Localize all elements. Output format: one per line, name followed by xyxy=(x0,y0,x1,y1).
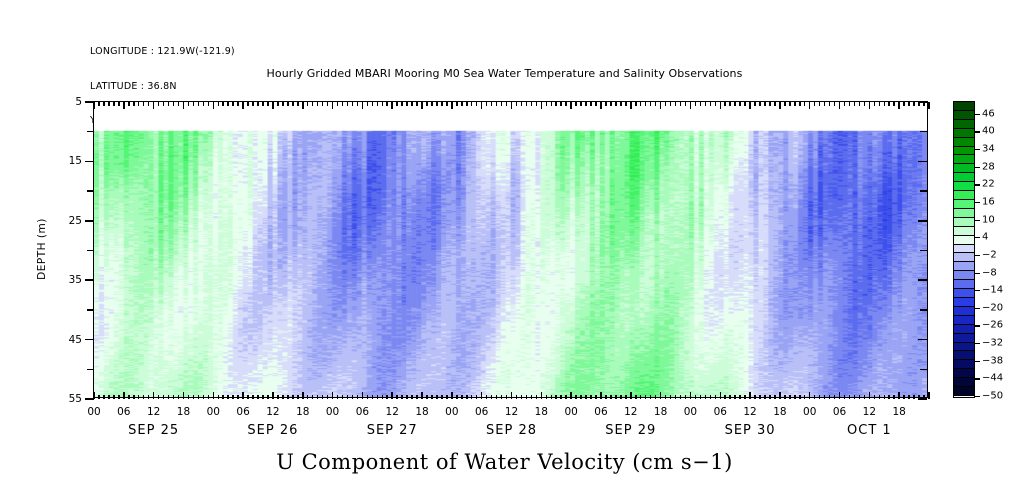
x-tick-minor-top xyxy=(476,102,478,106)
x-tick-major-top xyxy=(242,102,244,109)
x-tick-minor xyxy=(536,395,538,399)
x-tick-minor-top xyxy=(307,102,309,106)
x-tick-minor xyxy=(551,395,553,399)
x-tick-minor xyxy=(317,395,319,399)
x-tick-major-top xyxy=(898,102,900,109)
x-tick-minor xyxy=(615,395,617,399)
x-tick-minor-top xyxy=(168,102,170,106)
x-tick-minor xyxy=(143,395,145,399)
y-tick-label: 55 xyxy=(69,393,82,405)
x-tick-minor-top xyxy=(908,102,910,106)
x-tick-major xyxy=(600,392,602,399)
x-tick-minor-top xyxy=(546,102,548,106)
colorbar-band xyxy=(954,182,974,191)
colorbar-band xyxy=(954,253,974,262)
x-tick-minor-top xyxy=(565,102,567,106)
y-tick-minor xyxy=(87,131,94,133)
x-tick-minor xyxy=(227,395,229,399)
x-tick-minor xyxy=(764,395,766,399)
x-tick-major-top xyxy=(779,102,781,109)
x-tick-minor-top xyxy=(814,102,816,106)
x-tick-minor xyxy=(396,395,398,399)
x-tick-minor-top xyxy=(227,102,229,106)
x-tick-minor-top xyxy=(555,102,557,106)
x-tick-minor xyxy=(372,395,374,399)
x-tick-minor-top xyxy=(774,102,776,106)
x-tick-minor xyxy=(292,395,294,399)
x-tick-minor xyxy=(178,395,180,399)
x-tick-minor xyxy=(908,395,910,399)
colorbar-tick xyxy=(974,131,980,132)
x-tick-minor-top xyxy=(516,102,518,106)
colorbar-band xyxy=(954,147,974,156)
x-tick-minor xyxy=(307,395,309,399)
x-tick-minor xyxy=(297,395,299,399)
x-tick-minor-top xyxy=(103,102,105,106)
x-hour-label: 06 xyxy=(117,406,130,418)
x-hour-label: 12 xyxy=(266,406,279,418)
x-tick-minor-top xyxy=(496,102,498,106)
x-tick-minor xyxy=(834,395,836,399)
y-tick-minor-right xyxy=(920,369,927,371)
x-tick-minor xyxy=(352,395,354,399)
x-tick-major xyxy=(541,392,543,399)
x-tick-minor xyxy=(575,395,577,399)
colorbar-tick-label: −2 xyxy=(982,249,997,260)
x-tick-minor-top xyxy=(491,102,493,106)
x-hour-label: 00 xyxy=(684,406,697,418)
x-tick-minor-top xyxy=(382,102,384,106)
x-tick-major-top xyxy=(839,102,841,109)
colorbar-tick xyxy=(974,255,980,256)
x-tick-minor xyxy=(799,395,801,399)
colorbar-band xyxy=(954,289,974,298)
x-tick-minor-top xyxy=(650,102,652,106)
x-tick-minor-top xyxy=(724,102,726,106)
x-tick-minor-top xyxy=(605,102,607,106)
x-tick-minor xyxy=(695,395,697,399)
x-tick-minor xyxy=(471,395,473,399)
x-tick-minor-top xyxy=(352,102,354,106)
x-tick-minor-top xyxy=(710,102,712,106)
colorbar-band xyxy=(954,129,974,138)
colorbar-tick xyxy=(974,308,980,309)
x-tick-minor xyxy=(560,395,562,399)
x-tick-minor xyxy=(496,395,498,399)
colorbar-tick-label: 46 xyxy=(982,108,995,119)
x-hour-label: 12 xyxy=(147,406,160,418)
x-tick-major-top xyxy=(511,102,513,109)
x-tick-minor-top xyxy=(441,102,443,106)
x-tick-minor-top xyxy=(396,102,398,106)
x-tick-major-top xyxy=(600,102,602,109)
x-tick-minor xyxy=(650,395,652,399)
x-tick-major-top xyxy=(123,102,125,109)
x-tick-minor xyxy=(128,395,130,399)
x-tick-minor-top xyxy=(431,102,433,106)
y-tick-label: 15 xyxy=(69,155,82,167)
colorbar-tick-label: 16 xyxy=(982,196,995,207)
x-tick-minor-top xyxy=(705,102,707,106)
x-tick-minor xyxy=(327,395,329,399)
x-tick-minor xyxy=(416,395,418,399)
x-tick-minor xyxy=(486,395,488,399)
x-hour-label: 12 xyxy=(624,406,637,418)
x-day-label: SEP 26 xyxy=(247,423,298,438)
x-tick-minor xyxy=(580,395,582,399)
x-tick-minor xyxy=(864,395,866,399)
x-tick-minor-top xyxy=(357,102,359,106)
colorbar-tick xyxy=(974,149,980,150)
x-tick-minor-top xyxy=(799,102,801,106)
x-tick-minor-top xyxy=(685,102,687,106)
x-hour-label: 18 xyxy=(773,406,786,418)
x-tick-major-top xyxy=(541,102,543,109)
x-tick-minor-top xyxy=(188,102,190,106)
x-tick-minor-top xyxy=(789,102,791,106)
colorbar-tick-label: 34 xyxy=(982,144,995,155)
x-tick-minor xyxy=(406,395,408,399)
x-tick-minor xyxy=(466,395,468,399)
x-tick-minor xyxy=(113,395,115,399)
colorbar-band xyxy=(954,138,974,147)
colorbar-band xyxy=(954,191,974,200)
x-day-label: SEP 27 xyxy=(367,423,418,438)
x-tick-major xyxy=(779,392,781,399)
colorbar-tick xyxy=(974,237,980,238)
x-tick-minor-top xyxy=(317,102,319,106)
x-tick-minor-top xyxy=(874,102,876,106)
x-tick-major xyxy=(272,392,274,399)
x-tick-minor-top xyxy=(411,102,413,106)
x-tick-minor-top xyxy=(595,102,597,106)
x-day-label: SEP 29 xyxy=(605,423,656,438)
x-hour-label: 06 xyxy=(356,406,369,418)
x-tick-minor xyxy=(312,395,314,399)
colorbar-band xyxy=(954,209,974,218)
x-tick-minor xyxy=(431,395,433,399)
x-tick-major xyxy=(720,392,722,399)
x-tick-minor xyxy=(411,395,413,399)
x-tick-minor xyxy=(193,395,195,399)
x-hour-label: 00 xyxy=(207,406,220,418)
x-tick-minor xyxy=(754,395,756,399)
x-hour-label: 06 xyxy=(236,406,249,418)
colorbar-tick xyxy=(974,220,980,221)
latitude-text: LATITUDE : 36.8N xyxy=(90,81,235,93)
colorbar-tick-label: 10 xyxy=(982,214,995,225)
x-tick-major xyxy=(511,392,513,399)
x-tick-minor xyxy=(357,395,359,399)
x-tick-minor xyxy=(874,395,876,399)
x-tick-minor xyxy=(521,395,523,399)
x-tick-minor-top xyxy=(208,102,210,106)
x-tick-minor xyxy=(203,395,205,399)
x-tick-minor xyxy=(103,395,105,399)
x-tick-minor-top xyxy=(446,102,448,106)
x-tick-minor-top xyxy=(625,102,627,106)
x-tick-minor xyxy=(282,395,284,399)
y-tick-major xyxy=(85,220,94,222)
x-tick-major-top xyxy=(272,102,274,109)
x-tick-minor-top xyxy=(893,102,895,106)
x-tick-minor-top xyxy=(759,102,761,106)
x-tick-minor-top xyxy=(108,102,110,106)
x-tick-major xyxy=(928,392,930,399)
colorbar-tick xyxy=(974,114,980,115)
x-tick-minor-top xyxy=(754,102,756,106)
colorbar-band xyxy=(954,218,974,227)
x-tick-minor xyxy=(222,395,224,399)
x-tick-minor xyxy=(685,395,687,399)
x-tick-minor xyxy=(148,395,150,399)
colorbar-tick xyxy=(974,325,980,326)
x-tick-minor xyxy=(744,395,746,399)
x-tick-minor xyxy=(173,395,175,399)
y-tick-major xyxy=(85,161,94,163)
x-tick-minor xyxy=(913,395,915,399)
y-tick-minor xyxy=(87,250,94,252)
colorbar-band xyxy=(954,307,974,316)
colorbar-band xyxy=(954,102,974,111)
x-tick-minor xyxy=(705,395,707,399)
x-tick-minor xyxy=(377,395,379,399)
x-tick-minor-top xyxy=(580,102,582,106)
y-axis-title: DEPTH (m) xyxy=(36,218,48,280)
x-hour-label: 18 xyxy=(415,406,428,418)
x-tick-minor-top xyxy=(536,102,538,106)
x-tick-minor-top xyxy=(367,102,369,106)
x-tick-minor-top xyxy=(506,102,508,106)
x-hour-label: 18 xyxy=(654,406,667,418)
x-tick-major-top xyxy=(451,102,453,109)
colorbar-band xyxy=(954,164,974,173)
x-tick-minor xyxy=(506,395,508,399)
x-tick-minor xyxy=(724,395,726,399)
longitude-text: LONGITUDE : 121.9W(-121.9) xyxy=(90,46,235,58)
colorbar-tick-label: 28 xyxy=(982,161,995,172)
colorbar-tick xyxy=(974,167,980,168)
x-tick-minor-top xyxy=(849,102,851,106)
colorbar-band xyxy=(954,262,974,271)
x-tick-major xyxy=(898,392,900,399)
colorbar: 464034282216104−2−8−14−20−26−32−38−44−50 xyxy=(953,101,975,398)
x-tick-minor-top xyxy=(287,102,289,106)
x-tick-minor-top xyxy=(342,102,344,106)
y-tick-major-right xyxy=(918,220,927,222)
x-tick-minor xyxy=(188,395,190,399)
colorbar-tick xyxy=(974,396,980,397)
y-tick-label: 45 xyxy=(69,334,82,346)
x-tick-minor-top xyxy=(695,102,697,106)
x-tick-minor-top xyxy=(531,102,533,106)
x-tick-minor-top xyxy=(794,102,796,106)
x-tick-minor-top xyxy=(143,102,145,106)
x-tick-minor-top xyxy=(764,102,766,106)
x-tick-minor xyxy=(893,395,895,399)
colorbar-band xyxy=(954,298,974,307)
x-tick-minor-top xyxy=(406,102,408,106)
x-tick-minor-top xyxy=(486,102,488,106)
x-tick-minor xyxy=(257,395,259,399)
x-tick-minor-top xyxy=(222,102,224,106)
x-tick-major xyxy=(660,392,662,399)
x-tick-minor xyxy=(337,395,339,399)
x-tick-minor-top xyxy=(888,102,890,106)
x-tick-minor xyxy=(854,395,856,399)
x-tick-minor xyxy=(903,395,905,399)
x-tick-minor-top xyxy=(456,102,458,106)
x-tick-minor xyxy=(133,395,135,399)
x-tick-minor-top xyxy=(252,102,254,106)
y-tick-label: 35 xyxy=(69,274,82,286)
x-tick-minor-top xyxy=(426,102,428,106)
x-tick-minor-top xyxy=(198,102,200,106)
x-tick-major xyxy=(242,392,244,399)
x-tick-minor-top xyxy=(98,102,100,106)
x-hour-label: 12 xyxy=(505,406,518,418)
x-tick-minor-top xyxy=(734,102,736,106)
x-tick-minor-top xyxy=(854,102,856,106)
x-tick-minor-top xyxy=(859,102,861,106)
x-day-label: OCT 1 xyxy=(847,423,892,438)
x-tick-minor-top xyxy=(237,102,239,106)
x-tick-minor xyxy=(218,395,220,399)
colorbar-band xyxy=(954,271,974,280)
x-tick-minor-top xyxy=(282,102,284,106)
x-tick-minor xyxy=(342,395,344,399)
x-tick-minor xyxy=(386,395,388,399)
x-tick-minor xyxy=(665,395,667,399)
x-tick-minor xyxy=(918,395,920,399)
x-tick-minor-top xyxy=(655,102,657,106)
x-tick-minor xyxy=(789,395,791,399)
x-tick-minor-top xyxy=(879,102,881,106)
x-tick-minor-top xyxy=(372,102,374,106)
colorbar-band xyxy=(954,280,974,289)
x-hour-label: 06 xyxy=(594,406,607,418)
x-tick-minor xyxy=(680,395,682,399)
x-tick-minor-top xyxy=(461,102,463,106)
y-tick-minor-right xyxy=(920,250,927,252)
x-tick-minor-top xyxy=(844,102,846,106)
x-tick-minor-top xyxy=(337,102,339,106)
x-tick-minor xyxy=(734,395,736,399)
x-tick-minor xyxy=(347,395,349,399)
colorbar-band xyxy=(954,155,974,164)
x-tick-minor xyxy=(531,395,533,399)
x-tick-minor xyxy=(729,395,731,399)
x-tick-minor-top xyxy=(327,102,329,106)
x-tick-major-top xyxy=(570,102,572,109)
x-tick-minor xyxy=(287,395,289,399)
colorbar-tick-label: −20 xyxy=(982,302,1003,313)
x-tick-minor xyxy=(710,395,712,399)
x-tick-major xyxy=(869,392,871,399)
x-tick-minor xyxy=(595,395,597,399)
x-tick-minor xyxy=(401,395,403,399)
x-tick-minor-top xyxy=(829,102,831,106)
x-hour-label: 00 xyxy=(87,406,100,418)
y-tick-minor-right xyxy=(920,309,927,311)
x-tick-minor-top xyxy=(292,102,294,106)
colorbar-band xyxy=(954,334,974,343)
x-tick-major xyxy=(809,392,811,399)
x-tick-minor-top xyxy=(635,102,637,106)
x-tick-minor xyxy=(670,395,672,399)
x-tick-minor xyxy=(819,395,821,399)
x-tick-minor-top xyxy=(466,102,468,106)
colorbar-tick xyxy=(974,378,980,379)
x-tick-minor xyxy=(774,395,776,399)
x-tick-minor-top xyxy=(640,102,642,106)
colorbar-band xyxy=(954,245,974,254)
x-tick-major-top xyxy=(928,102,930,109)
x-tick-major xyxy=(362,392,364,399)
x-tick-minor xyxy=(426,395,428,399)
x-tick-minor xyxy=(476,395,478,399)
x-tick-minor xyxy=(198,395,200,399)
colorbar-tick-label: −50 xyxy=(982,391,1003,402)
x-tick-minor-top xyxy=(675,102,677,106)
x-tick-minor xyxy=(784,395,786,399)
x-tick-minor xyxy=(605,395,607,399)
x-tick-major-top xyxy=(421,102,423,109)
x-tick-minor-top xyxy=(729,102,731,106)
x-tick-minor xyxy=(262,395,264,399)
colorbar-tick-label: 22 xyxy=(982,179,995,190)
x-hour-label: 00 xyxy=(445,406,458,418)
colorbar-band xyxy=(954,369,974,378)
x-tick-minor-top xyxy=(163,102,165,106)
x-tick-minor xyxy=(461,395,463,399)
x-tick-minor-top xyxy=(923,102,925,106)
x-tick-minor xyxy=(118,395,120,399)
colorbar-band xyxy=(954,111,974,120)
x-hour-label: 00 xyxy=(326,406,339,418)
colorbar-tick xyxy=(974,184,980,185)
colorbar-band xyxy=(954,236,974,245)
x-hour-label: 18 xyxy=(296,406,309,418)
x-tick-minor xyxy=(158,395,160,399)
x-tick-minor-top xyxy=(884,102,886,106)
x-tick-minor xyxy=(769,395,771,399)
x-tick-minor-top xyxy=(585,102,587,106)
x-tick-minor xyxy=(565,395,567,399)
y-tick-major-right xyxy=(918,161,927,163)
x-hour-label: 06 xyxy=(833,406,846,418)
x-tick-minor-top xyxy=(416,102,418,106)
x-tick-minor-top xyxy=(620,102,622,106)
x-tick-minor xyxy=(208,395,210,399)
x-tick-minor xyxy=(675,395,677,399)
x-tick-major xyxy=(302,392,304,399)
y-tick-major xyxy=(85,339,94,341)
x-tick-minor xyxy=(794,395,796,399)
x-tick-minor-top xyxy=(297,102,299,106)
x-tick-minor xyxy=(814,395,816,399)
x-tick-major xyxy=(421,392,423,399)
x-tick-minor xyxy=(441,395,443,399)
x-tick-major-top xyxy=(213,102,215,109)
x-hour-label: 06 xyxy=(714,406,727,418)
colorbar-band xyxy=(954,378,974,387)
x-tick-major-top xyxy=(720,102,722,109)
x-tick-major xyxy=(749,392,751,399)
y-tick-minor xyxy=(87,309,94,311)
x-tick-minor xyxy=(446,395,448,399)
x-tick-minor xyxy=(526,395,528,399)
